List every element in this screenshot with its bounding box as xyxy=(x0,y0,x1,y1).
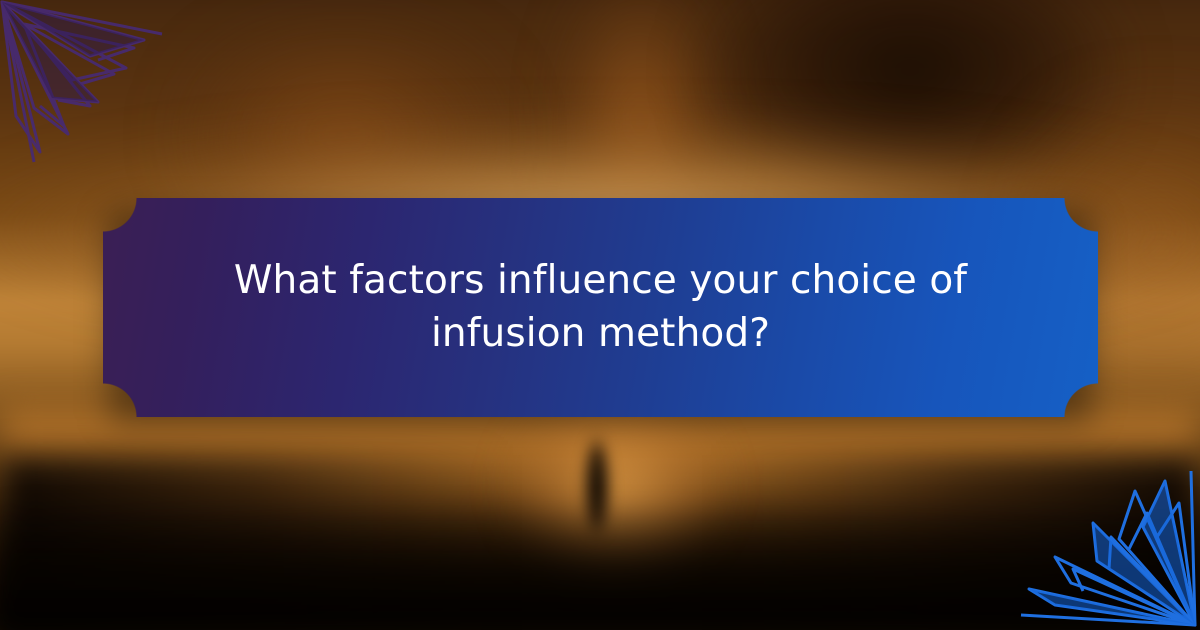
background-bottom-vignette xyxy=(0,500,1200,630)
quote-card-canvas: What factors influence your choice of in… xyxy=(0,0,1200,630)
question-card: What factors influence your choice of in… xyxy=(103,198,1098,417)
question-title: What factors influence your choice of in… xyxy=(182,255,1020,360)
question-card-surface: What factors influence your choice of in… xyxy=(103,198,1098,417)
